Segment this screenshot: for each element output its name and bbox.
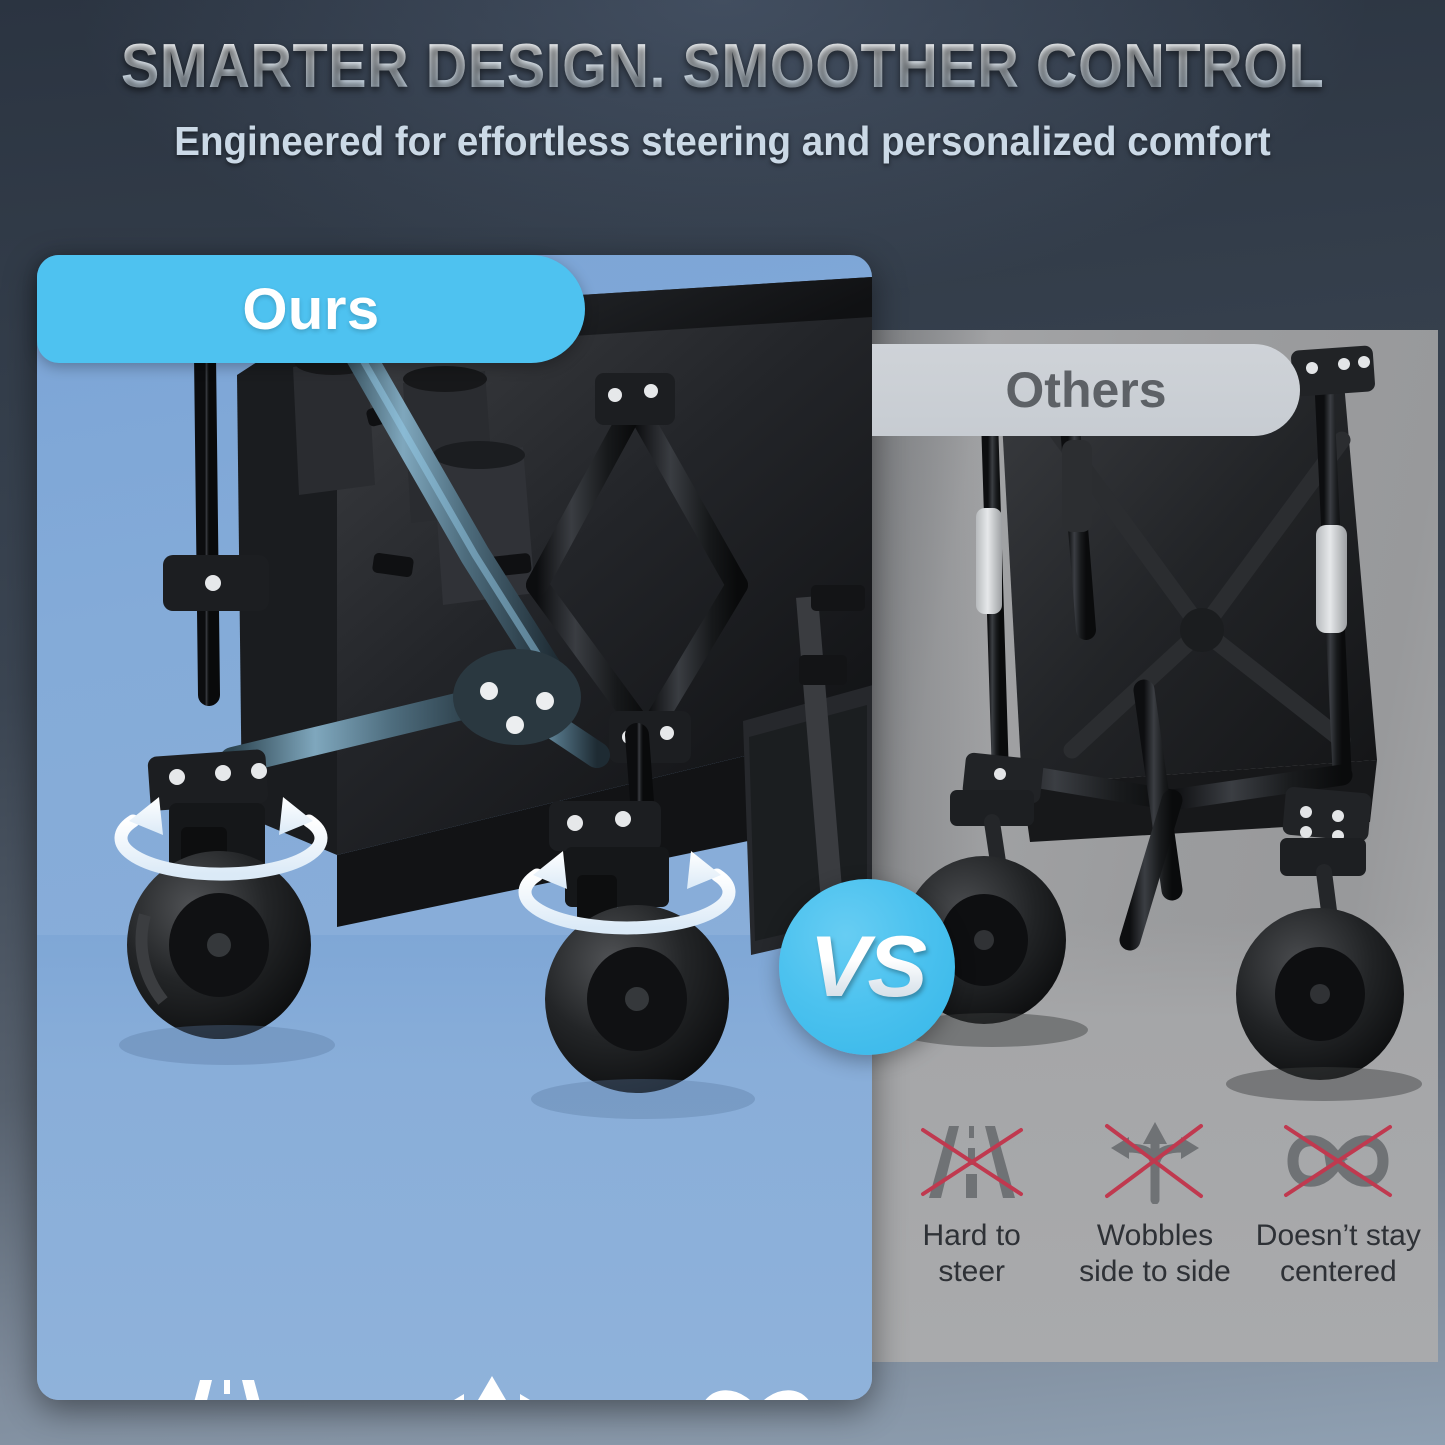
center-pivot xyxy=(453,649,581,745)
vs-badge: VS xyxy=(779,879,955,1055)
road-lane-icon xyxy=(152,1370,302,1400)
multi-direction-arrow-icon xyxy=(430,1370,554,1400)
ours-panel: Tracks straight effortlessly xyxy=(37,255,872,1400)
ours-product-illustration xyxy=(37,255,872,1400)
post-bracket xyxy=(163,555,269,611)
others-feature-2-label: Wobbles side to side xyxy=(1079,1218,1231,1290)
others-badge-label: Others xyxy=(1005,361,1166,419)
others-feature-3-label: Doesn’t stay centered xyxy=(1256,1218,1421,1290)
others-feature-1-label: Hard to steer xyxy=(922,1218,1020,1290)
others-caster-right xyxy=(1236,838,1404,1080)
ours-feature-2: Easy to control xyxy=(359,1370,624,1400)
page-title: SMARTER DESIGN. SMOOTHER CONTROL xyxy=(51,36,1395,98)
infinity-loop-crossed-icon xyxy=(1272,1118,1404,1204)
ours-badge-label: Ours xyxy=(242,276,379,343)
infographic-stage: SMARTER DESIGN. SMOOTHER CONTROL Enginee… xyxy=(0,0,1445,1445)
others-feature-2: Wobbles side to side xyxy=(1063,1118,1246,1328)
others-feature-list: Hard to steer Wobbles xyxy=(872,1118,1438,1328)
ours-feature-3: Smooth stable turning xyxy=(624,1370,872,1400)
ours-feature-1: Tracks straight effortlessly xyxy=(94,1370,359,1400)
vs-label: VS xyxy=(809,918,925,1017)
ours-badge: Ours xyxy=(37,255,585,363)
ours-feature-list: Tracks straight effortlessly xyxy=(74,1370,872,1400)
others-feature-3: Doesn’t stay centered xyxy=(1247,1118,1430,1328)
multi-direction-arrow-crossed-icon xyxy=(1099,1118,1211,1204)
others-feature-1: Hard to steer xyxy=(880,1118,1063,1328)
infinity-loop-icon xyxy=(682,1370,832,1400)
road-lane-crossed-icon xyxy=(907,1118,1037,1204)
others-badge: Others xyxy=(872,344,1300,436)
page-subtitle: Engineered for effortless steering and p… xyxy=(43,118,1401,166)
header-block: SMARTER DESIGN. SMOOTHER CONTROL Enginee… xyxy=(0,36,1445,166)
